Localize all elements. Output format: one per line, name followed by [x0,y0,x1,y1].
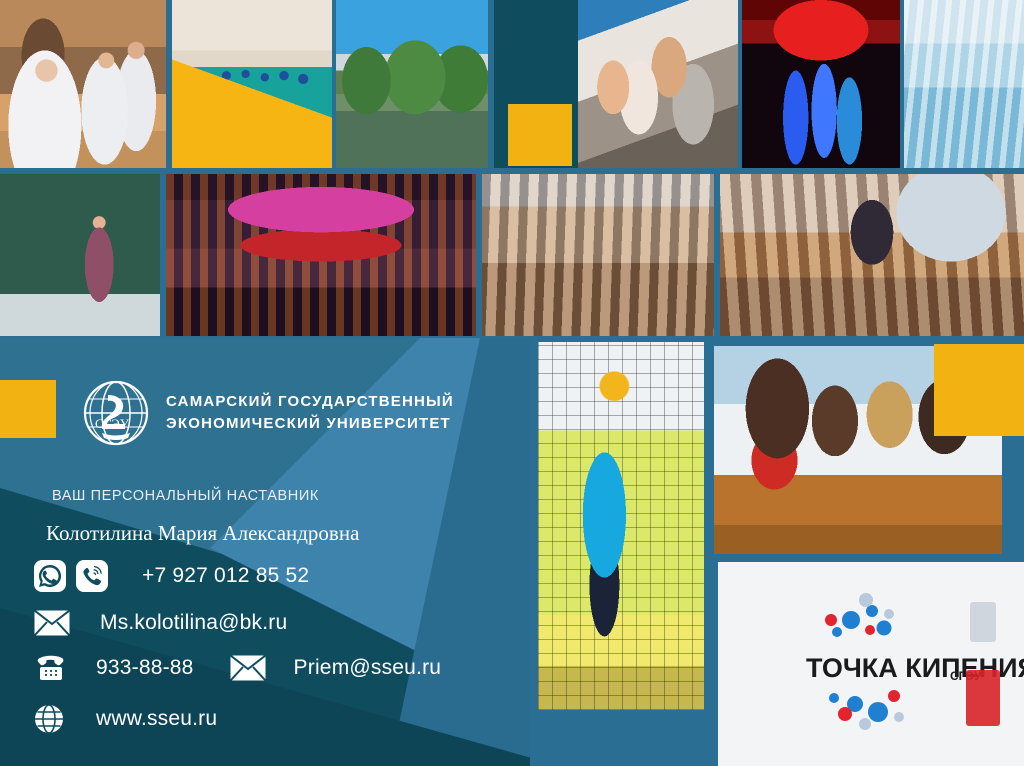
contact-value-website: www.sseu.ru [96,707,217,731]
panel-yellow-block-left [0,380,56,438]
logo-monogram: СГЭУ [95,416,130,431]
tochka-sign-graphic: ТОЧКА КИПЕНИЯ СГЭУ [718,562,1024,766]
whatsapp-icon[interactable] [34,560,66,592]
envelope-icon[interactable] [34,610,70,636]
panel-yellow-block-right [934,344,1024,436]
globe-icon[interactable] [34,704,64,734]
university-name-line1: САМАРСКИЙ ГОСУДАРСТВЕННЫЙ [166,393,454,410]
photo-lab [578,0,738,168]
contact-row-website: www.sseu.ru [34,704,217,734]
photo-campus [336,0,488,168]
photo-board [0,174,160,336]
telephone-icon[interactable] [34,654,68,682]
photo-concert [166,174,476,336]
contact-row-personal-email: Ms.kolotilina@bk.ru [34,610,287,636]
globe-sseu-logo-icon: СГЭУ [82,379,150,447]
info-panel: ТОЧКА КИПЕНИЯ СГЭУ [0,338,1024,766]
collage-yellow-block-1 [508,104,572,166]
mentor-label: ВАШ ПЕРСОНАЛЬНЫЙ НАСТАВНИК [52,488,319,504]
photo-tochka: ТОЧКА КИПЕНИЯ СГЭУ [718,562,1024,766]
contact-value-admissions-phone: 933-88-88 [96,656,194,680]
photo-pool [904,0,1024,168]
viber-icon[interactable] [76,560,108,592]
photo-gym [172,0,332,168]
university-logo: СГЭУ САМАРСКИЙ ГОСУДАРСТВЕННЫЙ ЭКОНОМИЧЕ… [82,379,454,447]
contact-value-personal-email: Ms.kolotilina@bk.ru [100,611,287,635]
contact-row-admissions: 933-88-88 Priem@sseu.ru [34,654,441,682]
university-name: САМАРСКИЙ ГОСУДАРСТВЕННЫЙ ЭКОНОМИЧЕСКИЙ … [166,391,454,436]
university-name-line2: ЭКОНОМИЧЕСКИЙ УНИВЕРСИТЕТ [166,415,451,432]
photo-collage [0,0,1024,338]
mentor-name: Колотилина Мария Александровна [46,521,359,546]
envelope-icon[interactable] [230,655,266,681]
photo-seminar [720,174,1024,336]
photo-library [0,0,166,168]
photo-lecture [482,174,714,336]
photo-volleyball [538,342,704,710]
photo-stage-red [742,0,900,168]
contact-value-messengers: +7 927 012 85 52 [142,564,309,588]
contact-value-admissions-email: Priem@sseu.ru [294,656,442,680]
contact-row-messengers: +7 927 012 85 52 [34,560,309,592]
poster-root: ТОЧКА КИПЕНИЯ СГЭУ [0,0,1024,766]
